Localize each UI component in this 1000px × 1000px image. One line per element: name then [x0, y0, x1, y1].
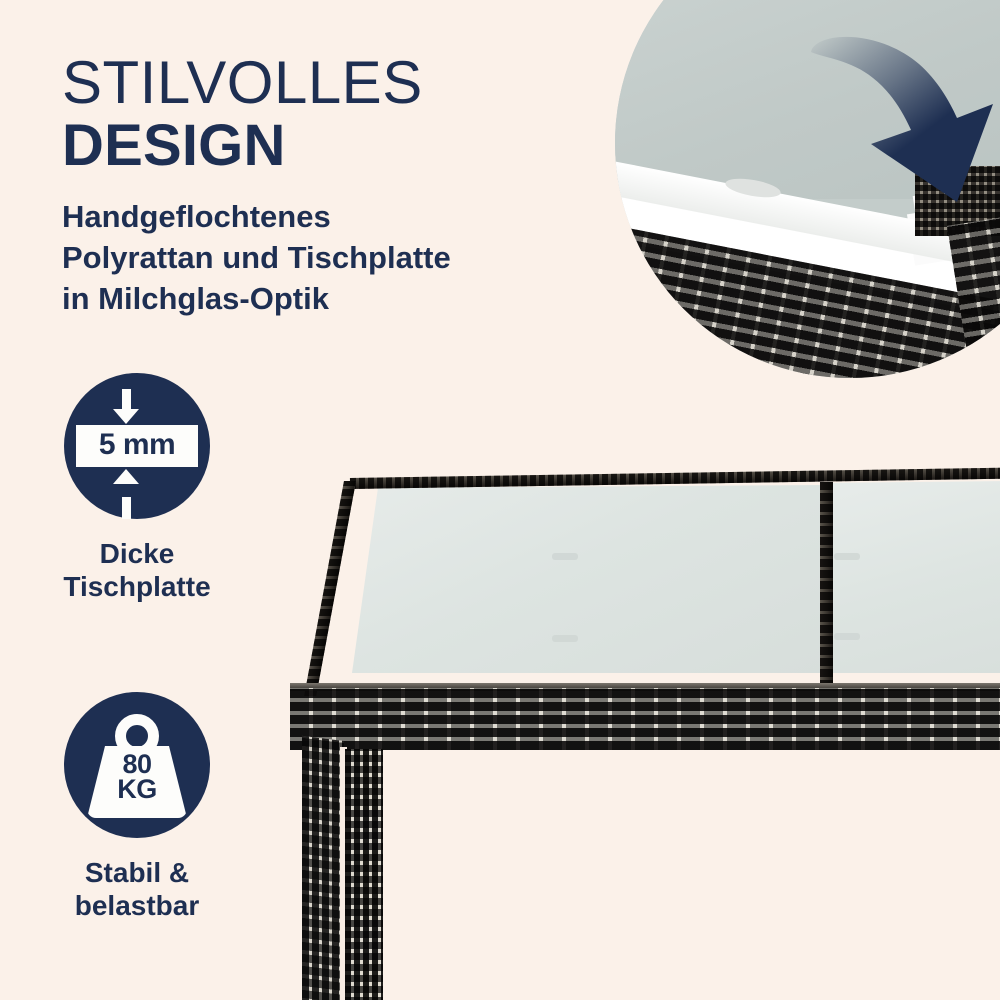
headline-line-1: STILVOLLES — [62, 52, 622, 114]
glass-panel-right — [828, 481, 1000, 673]
glass-clip — [552, 635, 578, 642]
feature-thickness-label: Dicke Tischplatte — [0, 537, 282, 603]
feature-load-label-line-2: belastbar — [0, 889, 282, 922]
thickness-value: 5 mm — [99, 430, 175, 460]
product-image-table — [290, 455, 1000, 1000]
feature-thickness-label-line-2: Tischplatte — [0, 570, 282, 603]
subheadline-line-2: Polyrattan und Tischplatte — [62, 237, 622, 278]
weight-value: 80 KG — [87, 752, 187, 802]
feature-load-capacity: 80 KG Stabil & belastbar — [0, 692, 282, 922]
frame-apron-front — [290, 688, 1000, 750]
frame-divider-center — [820, 482, 833, 688]
curved-arrow-down-right-icon — [807, 26, 1000, 226]
subheadline-line-1: Handgeflochtenes — [62, 196, 622, 237]
subheadline-line-3: in Milchglas-Optik — [62, 278, 622, 319]
weight-value-line-2: KG — [87, 777, 187, 802]
corner-detail-inset — [615, 0, 1000, 378]
feature-load-capacity-label: Stabil & belastbar — [0, 856, 282, 922]
glass-clip — [552, 553, 578, 560]
subheadline: Handgeflochtenes Polyrattan und Tischpla… — [62, 196, 622, 319]
page-title: STILVOLLES DESIGN — [62, 52, 622, 176]
feature-load-label-line-1: Stabil & — [0, 856, 282, 889]
badge-load-capacity: 80 KG — [64, 692, 210, 838]
feature-thickness-label-line-1: Dicke — [0, 537, 282, 570]
feature-thickness: 5 mm Dicke Tischplatte — [0, 373, 282, 603]
glass-panel-left — [352, 485, 824, 673]
frame-rail-left — [304, 481, 356, 696]
headline-line-2: DESIGN — [62, 116, 622, 176]
glass-clip — [834, 553, 860, 560]
weight-icon: 80 KG — [87, 714, 187, 818]
thickness-value-bar: 5 mm — [76, 425, 198, 467]
badge-thickness: 5 mm — [64, 373, 210, 519]
table-leg-front-face — [345, 749, 383, 1000]
table-leg-side-face — [302, 736, 344, 1000]
marketing-banner: STILVOLLES DESIGN Handgeflochtenes Polyr… — [0, 0, 1000, 1000]
glass-clip — [834, 633, 860, 640]
